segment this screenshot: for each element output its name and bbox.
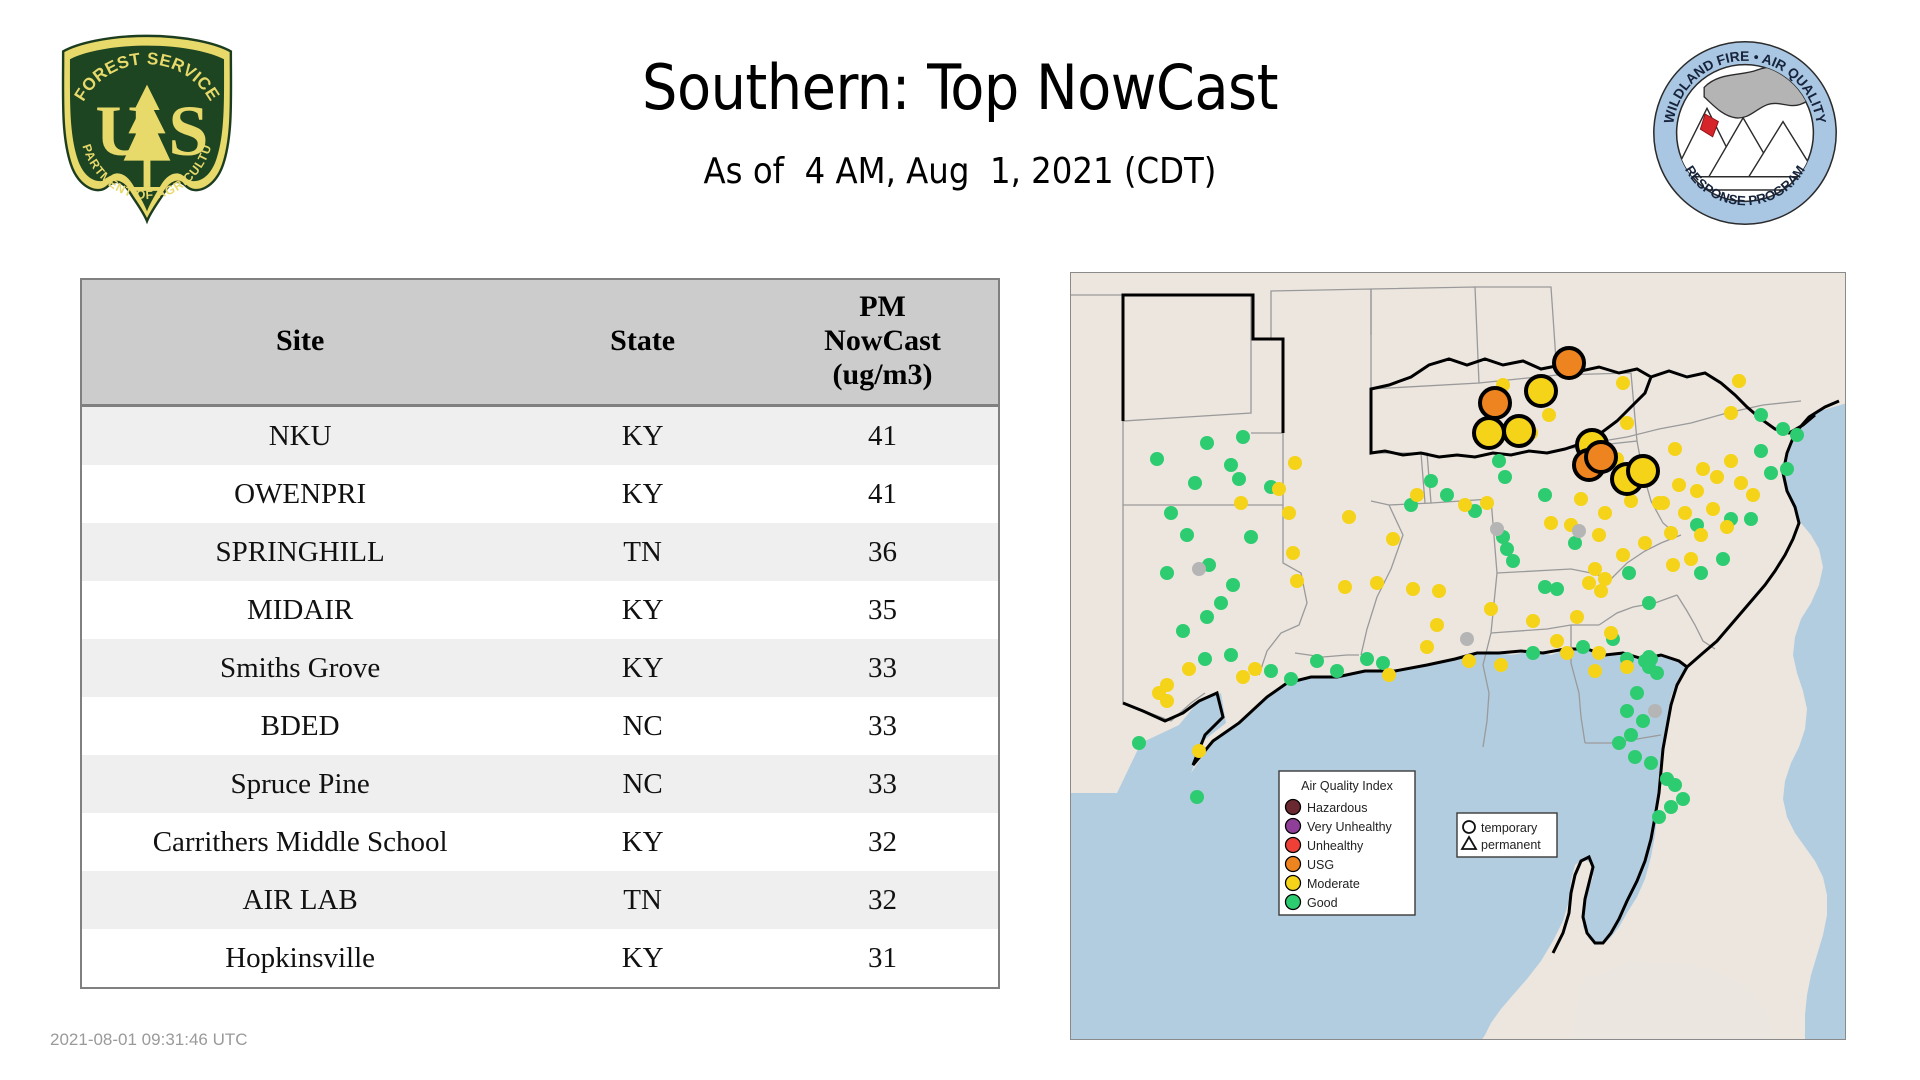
column-header-pm-nowcast: PM NowCast (ug/m3) [767,280,998,406]
top-site-marker [1526,376,1556,406]
cell-site: Spruce Pine [82,755,518,813]
top-nowcast-table: Site State PM NowCast (ug/m3) NKUKY41 OW… [80,278,1000,989]
cell-pm: 32 [767,813,998,871]
page-subtitle: As of 4 AM, Aug 1, 2021 (CDT) [0,150,1920,194]
cell-pm: 33 [767,639,998,697]
cell-site: Hopkinsville [82,929,518,987]
cell-state: KY [518,465,767,523]
symbol-legend-label-temporary: temporary [1481,821,1538,835]
top-site-marker [1504,416,1534,446]
cell-state: KY [518,581,767,639]
cell-pm: 32 [767,871,998,929]
column-header-pm-line3: (ug/m3) [771,358,994,392]
symbol-legend-label-permanent: permanent [1481,838,1541,852]
cell-pm: 35 [767,581,998,639]
legend-label-moderate: Moderate [1307,877,1360,891]
column-header-pm-line2: NowCast [771,324,994,358]
aqi-legend-item: Hazardous [1286,800,1368,816]
cell-site: NKU [82,406,518,466]
table-row: AIR LABTN32 [82,871,998,929]
cell-pm: 31 [767,929,998,987]
cell-site: Carrithers Middle School [82,813,518,871]
table-row: HopkinsvilleKY31 [82,929,998,987]
aqi-legend-item: Unhealthy [1286,838,1365,854]
top-site-marker [1474,418,1504,448]
legend-swatch-very-unhealthy [1286,819,1301,834]
table-row: SPRINGHILLTN36 [82,523,998,581]
cell-site: OWENPRI [82,465,518,523]
top-site-marker [1480,388,1510,418]
aqi-legend: Air Quality Index Hazardous Very Unhealt… [1279,771,1415,915]
legend-swatch-moderate [1286,876,1301,891]
legend-label-hazardous: Hazardous [1307,801,1367,815]
table-row: MIDAIRKY35 [82,581,998,639]
cell-pm: 33 [767,697,998,755]
legend-swatch-hazardous [1286,800,1301,815]
legend-swatch-unhealthy [1286,838,1301,853]
cell-pm: 33 [767,755,998,813]
cell-pm: 41 [767,406,998,466]
cell-state: KY [518,639,767,697]
top-site-marker [1586,442,1616,472]
legend-label-usg: USG [1307,858,1334,872]
table-row: BDEDNC33 [82,697,998,755]
slide-root: FOREST SERVICE DEPARTMENT OF AGRICULTURE… [0,0,1920,1080]
cell-state: KY [518,929,767,987]
cell-state: NC [518,755,767,813]
table-row: Carrithers Middle SchoolKY32 [82,813,998,871]
column-header-site: Site [82,280,518,406]
cell-state: KY [518,406,767,466]
cell-site: BDED [82,697,518,755]
legend-label-good: Good [1307,896,1338,910]
aqi-legend-item: Good [1286,895,1338,911]
cell-site: Smiths Grove [82,639,518,697]
table-row: OWENPRIKY41 [82,465,998,523]
symbol-legend: temporary permanent [1457,813,1557,857]
legend-swatch-good [1286,895,1301,910]
legend-label-very-unhealthy: Very Unhealthy [1307,820,1393,834]
cell-site: MIDAIR [82,581,518,639]
legend-swatch-usg [1286,857,1301,872]
cell-pm: 36 [767,523,998,581]
cell-pm: 41 [767,465,998,523]
aqi-legend-item: Moderate [1286,876,1360,892]
top-site-marker [1628,456,1658,486]
generated-timestamp: 2021-08-01 09:31:46 UTC [50,1030,248,1050]
page-title: Southern: Top NowCast [0,52,1920,124]
table-row: Smiths GroveKY33 [82,639,998,697]
table-row: NKUKY41 [82,406,998,466]
cell-state: NC [518,697,767,755]
table-row: Spruce PineNC33 [82,755,998,813]
cell-state: TN [518,871,767,929]
top-site-marker [1554,348,1584,378]
table-header-row: Site State PM NowCast (ug/m3) [82,280,998,406]
legend-label-unhealthy: Unhealthy [1307,839,1364,853]
air-quality-map: Air Quality Index Hazardous Very Unhealt… [1070,272,1846,1040]
cell-site: AIR LAB [82,871,518,929]
cell-state: TN [518,523,767,581]
table-body: NKUKY41 OWENPRIKY41 SPRINGHILLTN36 MIDAI… [82,406,998,988]
column-header-state: State [518,280,767,406]
aqi-legend-item: USG [1286,857,1335,873]
aqi-legend-title: Air Quality Index [1301,779,1393,793]
cell-site: SPRINGHILL [82,523,518,581]
wfaqrp-seal-icon: WILDLAND FIRE • AIR QUALITY RESPONSE PRO… [1650,38,1840,228]
cell-state: KY [518,813,767,871]
column-header-pm-line1: PM [771,290,994,324]
